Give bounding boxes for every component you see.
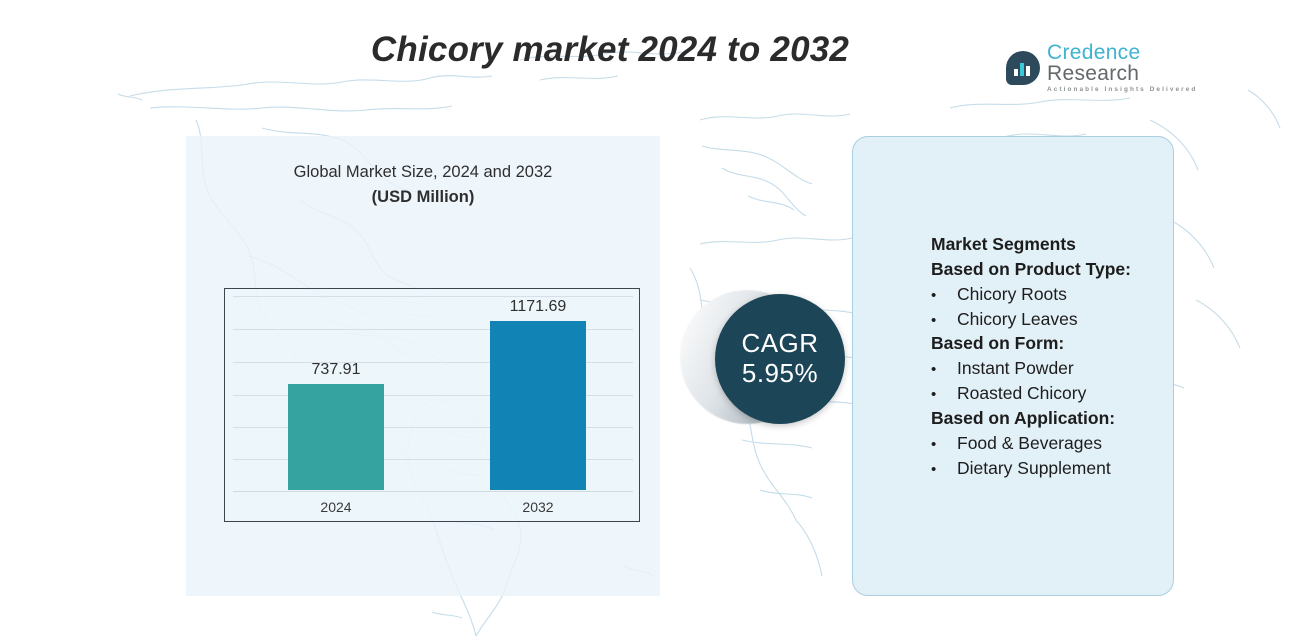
logo-name-part1: Credence <box>1047 41 1140 64</box>
bullet-icon: • <box>931 434 957 455</box>
category-label-2024: 2024 <box>271 499 401 515</box>
brand-logo: Credence Research Actionable Insights De… <box>1006 48 1201 88</box>
chart-heading-line2: (USD Million) <box>200 188 646 207</box>
segment-group-heading-product-type: Based on Product Type: <box>931 257 1181 282</box>
market-segments-list: Market Segments Based on Product Type: •… <box>931 232 1181 480</box>
logo-name-part2: Research <box>1047 62 1139 85</box>
cagr-badge: CAGR 5.95% <box>680 272 880 462</box>
segment-item-label: Roasted Chicory <box>957 381 1086 406</box>
infographic-page: Chicory market 2024 to 2032 Credence Res… <box>0 0 1308 640</box>
bar-chart-plot: 737.91 1171.69 2024 2032 <box>224 288 640 522</box>
cagr-label: CAGR <box>741 329 818 358</box>
segment-item-label: Instant Powder <box>957 356 1074 381</box>
segment-item-chicory-roots: • Chicory Roots <box>931 282 1181 307</box>
segment-item-label: Chicory Leaves <box>957 307 1078 332</box>
segment-item-label: Food & Beverages <box>957 431 1102 456</box>
segment-item-chicory-leaves: • Chicory Leaves <box>931 307 1181 332</box>
cagr-circle: CAGR 5.95% <box>715 294 845 424</box>
chart-heading-line1: Global Market Size, 2024 and 2032 <box>200 163 646 182</box>
category-label-2032: 2032 <box>473 499 603 515</box>
segment-item-label: Chicory Roots <box>957 282 1067 307</box>
segment-group-heading-form: Based on Form: <box>931 331 1181 356</box>
bar-value-2024: 737.91 <box>271 361 401 379</box>
bullet-icon: • <box>931 459 957 480</box>
bullet-icon: • <box>931 285 957 306</box>
chart-heading: Global Market Size, 2024 and 2032 (USD M… <box>200 163 646 207</box>
bullet-icon: • <box>931 310 957 331</box>
segments-title: Market Segments <box>931 232 1181 257</box>
segment-item-label: Dietary Supplement <box>957 456 1111 481</box>
bar-2032 <box>490 321 586 490</box>
bar-2024 <box>288 384 384 490</box>
logo-tagline: Actionable Insights Delivered <box>1047 87 1201 93</box>
bullet-icon: • <box>931 359 957 380</box>
segment-item-dietary-supplement: • Dietary Supplement <box>931 456 1181 481</box>
cagr-value: 5.95% <box>742 359 818 389</box>
gridline <box>233 296 633 297</box>
logo-name: Credence Research <box>1047 42 1201 84</box>
segment-item-roasted-chicory: • Roasted Chicory <box>931 381 1181 406</box>
bullet-icon: • <box>931 384 957 405</box>
bar-value-2032: 1171.69 <box>473 298 603 316</box>
segment-item-food-and-beverages: • Food & Beverages <box>931 431 1181 456</box>
axis-baseline <box>233 491 633 492</box>
bar-chart-bubble-icon <box>1006 51 1040 85</box>
segment-group-heading-application: Based on Application: <box>931 406 1181 431</box>
segment-item-instant-powder: • Instant Powder <box>931 356 1181 381</box>
